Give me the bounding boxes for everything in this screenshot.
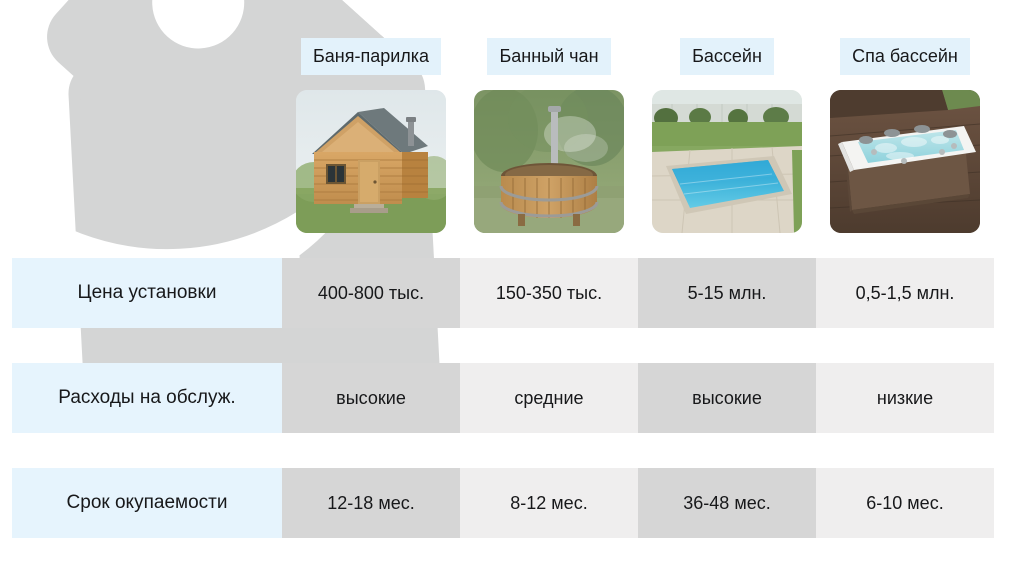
row-label: Расходы на обслуж. xyxy=(12,363,282,433)
column-title-chip: Бассейн xyxy=(680,38,774,75)
column-header-4: Спа бассейн xyxy=(816,38,994,233)
table-cell: 36-48 мес. xyxy=(638,468,816,538)
spa-jacuzzi-photo xyxy=(830,90,980,233)
table-row: Расходы на обслуж. высокие средние высок… xyxy=(12,363,992,433)
table-row: Срок окупаемости 12-18 мес. 8-12 мес. 36… xyxy=(12,468,992,538)
column-title-chip: Баня-парилка xyxy=(301,38,441,75)
table-cell: 5-15 млн. xyxy=(638,258,816,328)
comparison-infographic: Баня-парилка xyxy=(0,0,1024,579)
table-cell: 8-12 мес. xyxy=(460,468,638,538)
outdoor-swimming-pool-photo xyxy=(652,90,802,233)
table-row: Цена установки 400-800 тыс. 150-350 тыс.… xyxy=(12,258,992,328)
table-cell: средние xyxy=(460,363,638,433)
header-label-spacer xyxy=(12,38,282,233)
wooden-hot-tub-photo xyxy=(474,90,624,233)
column-header-2: Банный чан xyxy=(460,38,638,233)
row-label: Срок окупаемости xyxy=(12,468,282,538)
table-header-row: Баня-парилка xyxy=(12,38,992,233)
column-header-3: Бассейн xyxy=(638,38,816,233)
table-cell: низкие xyxy=(816,363,994,433)
table-cell: 12-18 мес. xyxy=(282,468,460,538)
column-title-chip: Банный чан xyxy=(487,38,610,75)
log-sauna-cabin-photo xyxy=(296,90,446,233)
table-cell: 0,5-1,5 млн. xyxy=(816,258,994,328)
column-title-chip: Спа бассейн xyxy=(840,38,970,75)
row-label: Цена установки xyxy=(12,258,282,328)
table-cell: 400-800 тыс. xyxy=(282,258,460,328)
table-cell: 6-10 мес. xyxy=(816,468,994,538)
table-cell: высокие xyxy=(638,363,816,433)
table-cell: высокие xyxy=(282,363,460,433)
table-cell: 150-350 тыс. xyxy=(460,258,638,328)
column-header-1: Баня-парилка xyxy=(282,38,460,233)
